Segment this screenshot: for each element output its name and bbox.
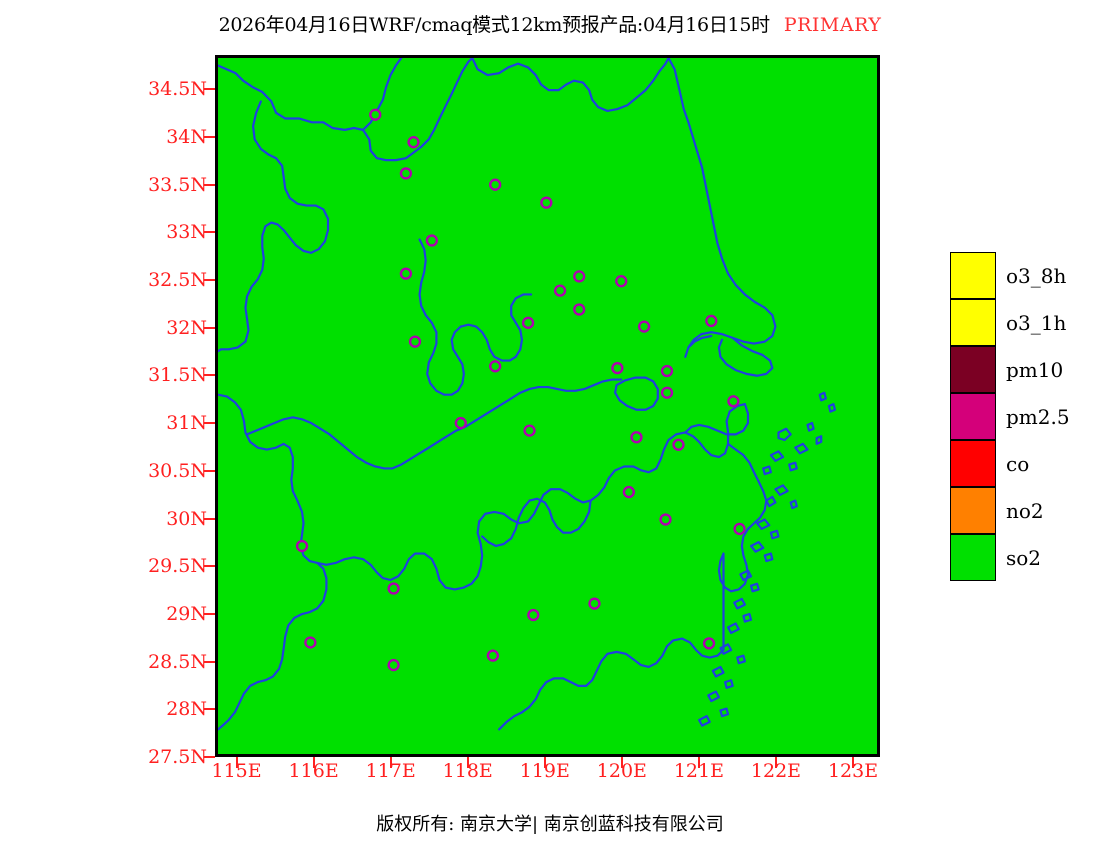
y-axis-tick-label: 32.5N	[148, 269, 207, 291]
legend-swatch	[950, 393, 996, 440]
border-polyline	[591, 404, 745, 500]
legend-swatch	[950, 534, 996, 581]
legend-item-co[interactable]: co	[950, 440, 1090, 487]
border-polyline	[317, 489, 590, 589]
legend-swatch	[950, 487, 996, 534]
island-outline	[713, 667, 724, 677]
station-marker[interactable]	[490, 361, 500, 371]
y-axis-tick-mark	[204, 565, 215, 567]
y-axis-tick-mark	[204, 184, 215, 186]
station-marker[interactable]	[624, 487, 634, 497]
y-axis-labels: 34.5N34N33.5N33N32.5N32N31.5N31N30.5N30N…	[135, 55, 207, 757]
border-polyline	[420, 240, 464, 395]
island-outline	[771, 451, 783, 460]
border-polyline	[472, 58, 668, 111]
station-marker[interactable]	[401, 168, 411, 178]
border-polyline	[247, 417, 392, 468]
station-marker[interactable]	[661, 515, 671, 525]
x-axis-tick-mark	[236, 757, 238, 768]
legend-label: pm10	[1006, 358, 1063, 382]
y-axis-tick-label: 27.5N	[148, 746, 207, 768]
island-outline	[817, 436, 822, 444]
island-outline	[751, 542, 763, 552]
station-marker[interactable]	[490, 180, 500, 190]
y-axis-tick-mark	[204, 708, 215, 710]
x-axis-tick-mark	[544, 757, 546, 768]
y-axis-tick-mark	[204, 327, 215, 329]
legend-label: o3_1h	[1006, 311, 1066, 335]
station-marker[interactable]	[662, 388, 672, 398]
y-axis-tick-label: 29.5N	[148, 555, 207, 577]
y-axis-tick-mark	[204, 756, 215, 758]
y-axis-tick-mark	[204, 279, 215, 281]
border-polyline	[685, 404, 748, 434]
legend-label: no2	[1006, 499, 1044, 523]
island-outline	[829, 404, 835, 412]
island-outline	[751, 584, 759, 592]
legend-label: o3_8h	[1006, 264, 1066, 288]
island-outline	[737, 656, 745, 664]
station-marker[interactable]	[456, 418, 466, 428]
island-outline	[789, 463, 797, 471]
y-axis-tick-mark	[204, 470, 215, 472]
station-marker[interactable]	[728, 396, 738, 406]
pollutant-legend: o3_8ho3_1hpm10pm2.5cono2so2	[950, 252, 1090, 581]
border-polyline	[615, 378, 658, 410]
station-marker[interactable]	[590, 599, 600, 609]
station-marker[interactable]	[706, 316, 716, 326]
y-axis-tick-mark	[204, 613, 215, 615]
x-axis-tick-mark	[467, 757, 469, 768]
island-outline	[743, 614, 751, 622]
station-marker[interactable]	[370, 110, 380, 120]
y-axis-tick-label: 28.5N	[148, 651, 207, 673]
x-axis-tick-mark	[621, 757, 623, 768]
station-marker[interactable]	[401, 269, 411, 279]
y-axis-tick-mark	[204, 88, 215, 90]
station-marker[interactable]	[427, 236, 437, 246]
x-axis-ticks	[215, 757, 880, 771]
legend-item-no2[interactable]: no2	[950, 487, 1090, 534]
station-marker[interactable]	[662, 366, 672, 376]
border-polyline	[499, 639, 723, 730]
legend-item-o3_1h[interactable]: o3_1h	[950, 299, 1090, 346]
island-outline	[765, 554, 773, 562]
station-marker[interactable]	[616, 276, 626, 286]
page-title: 2026年04月16日WRF/cmaq模式12km预报产品:04月16日15时P…	[0, 10, 1100, 37]
station-marker[interactable]	[704, 638, 714, 648]
legend-swatch	[950, 440, 996, 487]
offshore-islands	[699, 393, 835, 726]
x-axis-tick-mark	[698, 757, 700, 768]
legend-swatch	[950, 299, 996, 346]
legend-item-o3_8h[interactable]: o3_8h	[950, 252, 1090, 299]
border-polyline	[719, 444, 766, 650]
station-marker[interactable]	[735, 524, 745, 534]
y-axis-tick-label: 30.5N	[148, 460, 207, 482]
legend-item-pm2-5[interactable]: pm2.5	[950, 393, 1090, 440]
station-markers[interactable]	[297, 110, 744, 670]
station-marker[interactable]	[525, 426, 535, 436]
island-outline	[775, 485, 787, 495]
y-axis-tick-label: 33.5N	[148, 174, 207, 196]
island-outline	[820, 393, 826, 401]
station-marker[interactable]	[574, 271, 584, 281]
border-polyline	[218, 102, 328, 352]
station-marker[interactable]	[488, 651, 498, 661]
x-axis-tick-mark	[775, 757, 777, 768]
island-outline	[720, 644, 731, 653]
border-polyline	[461, 294, 531, 360]
copyright-footer: 版权所有: 南京大学| 南京创蓝科技有限公司	[0, 810, 1100, 836]
island-outline	[795, 444, 807, 453]
title-main-text: 2026年04月16日WRF/cmaq模式12km预报产品:04月16日15时	[219, 14, 770, 36]
forecast-map-plot[interactable]	[215, 55, 880, 757]
island-outline	[720, 709, 728, 717]
y-axis-tick-label: 34.5N	[148, 78, 207, 100]
legend-label: so2	[1006, 546, 1041, 570]
legend-swatch	[950, 346, 996, 393]
station-marker[interactable]	[632, 432, 642, 442]
island-outline	[728, 624, 739, 633]
y-axis-tick-mark	[204, 374, 215, 376]
island-outline	[734, 599, 745, 608]
x-axis-tick-mark	[313, 757, 315, 768]
y-axis-tick-mark	[204, 518, 215, 520]
x-axis-tick-mark	[852, 757, 854, 768]
y-axis-tick-mark	[204, 661, 215, 663]
border-polyline	[719, 338, 772, 376]
station-marker[interactable]	[528, 610, 538, 620]
station-marker[interactable]	[389, 660, 399, 670]
station-marker[interactable]	[612, 363, 622, 373]
y-axis-tick-mark	[204, 422, 215, 424]
legend-swatch	[950, 252, 996, 299]
station-marker[interactable]	[574, 305, 584, 315]
border-polyline	[392, 380, 621, 469]
border-polyline	[668, 58, 775, 357]
island-outline	[778, 429, 790, 440]
island-outline	[708, 692, 719, 702]
island-outline	[699, 716, 710, 726]
island-outline	[791, 501, 797, 509]
legend-item-so2[interactable]: so2	[950, 534, 1090, 581]
x-axis-tick-mark	[390, 757, 392, 768]
island-outline	[771, 531, 779, 539]
island-outline	[766, 497, 775, 506]
map-canvas[interactable]	[218, 58, 877, 754]
y-axis-ticks	[201, 55, 215, 757]
legend-label: pm2.5	[1006, 405, 1070, 429]
station-marker[interactable]	[389, 584, 399, 594]
station-marker[interactable]	[523, 318, 533, 328]
title-primary-badge: PRIMARY	[784, 14, 882, 36]
station-marker[interactable]	[674, 440, 684, 450]
station-marker[interactable]	[541, 198, 551, 208]
station-marker[interactable]	[305, 638, 315, 648]
island-outline	[725, 680, 733, 688]
legend-label: co	[1006, 452, 1029, 476]
station-marker[interactable]	[409, 137, 419, 147]
island-outline	[757, 520, 769, 529]
y-axis-tick-mark	[204, 136, 215, 138]
legend-item-pm10[interactable]: pm10	[950, 346, 1090, 393]
station-marker[interactable]	[555, 286, 565, 296]
island-outline	[763, 466, 771, 474]
station-marker[interactable]	[410, 337, 420, 347]
island-outline	[808, 423, 814, 431]
y-axis-tick-label: 31.5N	[148, 364, 207, 386]
y-axis-tick-mark	[204, 231, 215, 233]
island-outline	[740, 571, 751, 580]
station-marker[interactable]	[297, 541, 307, 551]
province-border-lines	[218, 58, 775, 729]
station-marker[interactable]	[639, 322, 649, 332]
